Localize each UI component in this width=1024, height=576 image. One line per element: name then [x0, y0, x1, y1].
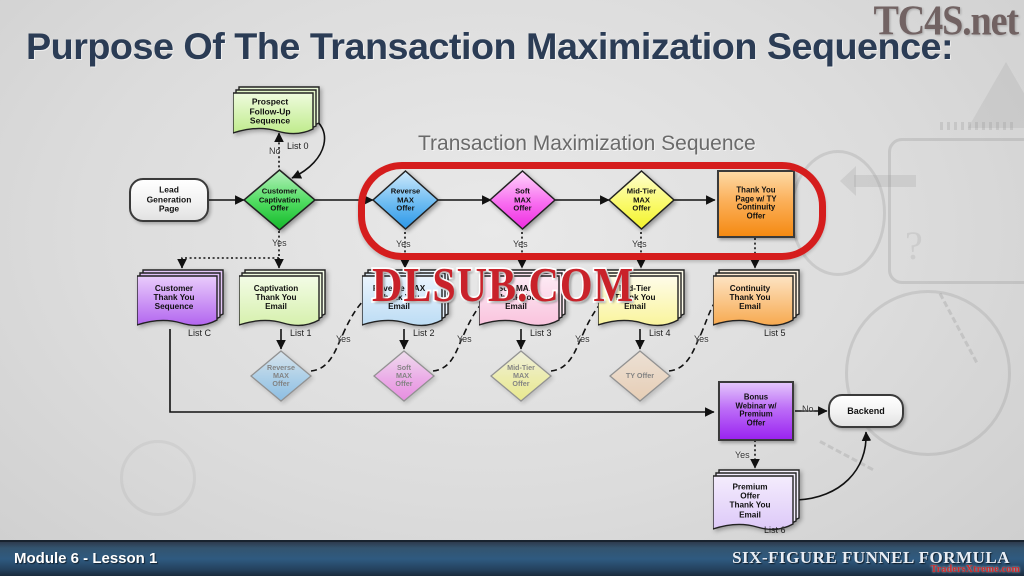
node-soft-max-offer-secondary[interactable]: Soft MAX Offer: [373, 350, 435, 402]
node-customer-thank-you-sequence[interactable]: Customer Thank You Sequence: [137, 268, 229, 330]
footer-module-lesson: Module 6 - Lesson 1: [14, 550, 157, 567]
node-captivation-thank-you-email[interactable]: Captivation Thank You Email: [239, 268, 331, 330]
node-label: Lead Generation Page: [131, 186, 207, 215]
node-mid-tier-max-offer-secondary[interactable]: Mid-Tier MAX Offer: [490, 350, 552, 402]
highlight-oval-transaction-sequence: [358, 162, 826, 260]
node-continuity-thank-you-email[interactable]: Continuity Thank You Email: [713, 268, 805, 330]
edge-label-yes-branch-3: Yes: [575, 334, 590, 344]
node-prospect-follow-up-sequence[interactable]: Prospect Follow-Up Sequence: [233, 85, 325, 137]
node-customer-captivation-offer[interactable]: Customer Captivation Offer: [243, 169, 316, 231]
list-tag-mid-tier-ty: List 4: [649, 328, 671, 338]
watermark-dlsub: DLSUB.COM: [372, 258, 634, 313]
list-tag-prospect: List 0: [287, 141, 309, 151]
list-tag-continuity-ty: List 5: [764, 328, 786, 338]
node-premium-offer-thank-you-email[interactable]: Premium Offer Thank You Email: [713, 468, 805, 534]
node-lead-generation-page[interactable]: Lead Generation Page: [129, 178, 209, 222]
node-label: Bonus Webinar w/ Premium Offer: [720, 394, 792, 429]
edge-label-no-prospect: No: [269, 146, 281, 156]
watermark-tradersxtreme: TradersXtreme.com: [931, 564, 1020, 575]
edge-label-yes-premium: Yes: [735, 450, 750, 460]
slide-canvas: ? Purpose Of The Transaction Maximizatio…: [0, 0, 1024, 576]
node-bonus-webinar-premium-offer[interactable]: Bonus Webinar w/ Premium Offer: [718, 381, 794, 441]
node-ty-offer[interactable]: TY Offer: [609, 350, 671, 402]
edge-label-no-backend: No: [802, 404, 814, 414]
edge-label-yes-branch-1: Yes: [336, 334, 351, 344]
footer-bar: Module 6 - Lesson 1 SIX-FIGURE FUNNEL FO…: [0, 540, 1024, 576]
node-label: Backend: [830, 406, 902, 416]
edge-label-yes-branch-4: Yes: [694, 334, 709, 344]
node-reverse-max-offer-secondary[interactable]: Reverse MAX Offer: [250, 350, 312, 402]
node-backend[interactable]: Backend: [828, 394, 904, 428]
list-tag-captivation-ty: List 1: [290, 328, 312, 338]
list-tag-premium-ty: List 6: [764, 525, 786, 535]
list-tag-customer-ty: List C: [188, 328, 211, 338]
list-tag-soft-ty: List 3: [530, 328, 552, 338]
edge-label-yes-captivation: Yes: [272, 238, 287, 248]
list-tag-reverse-ty: List 2: [413, 328, 435, 338]
edge-label-yes-branch-2: Yes: [457, 334, 472, 344]
